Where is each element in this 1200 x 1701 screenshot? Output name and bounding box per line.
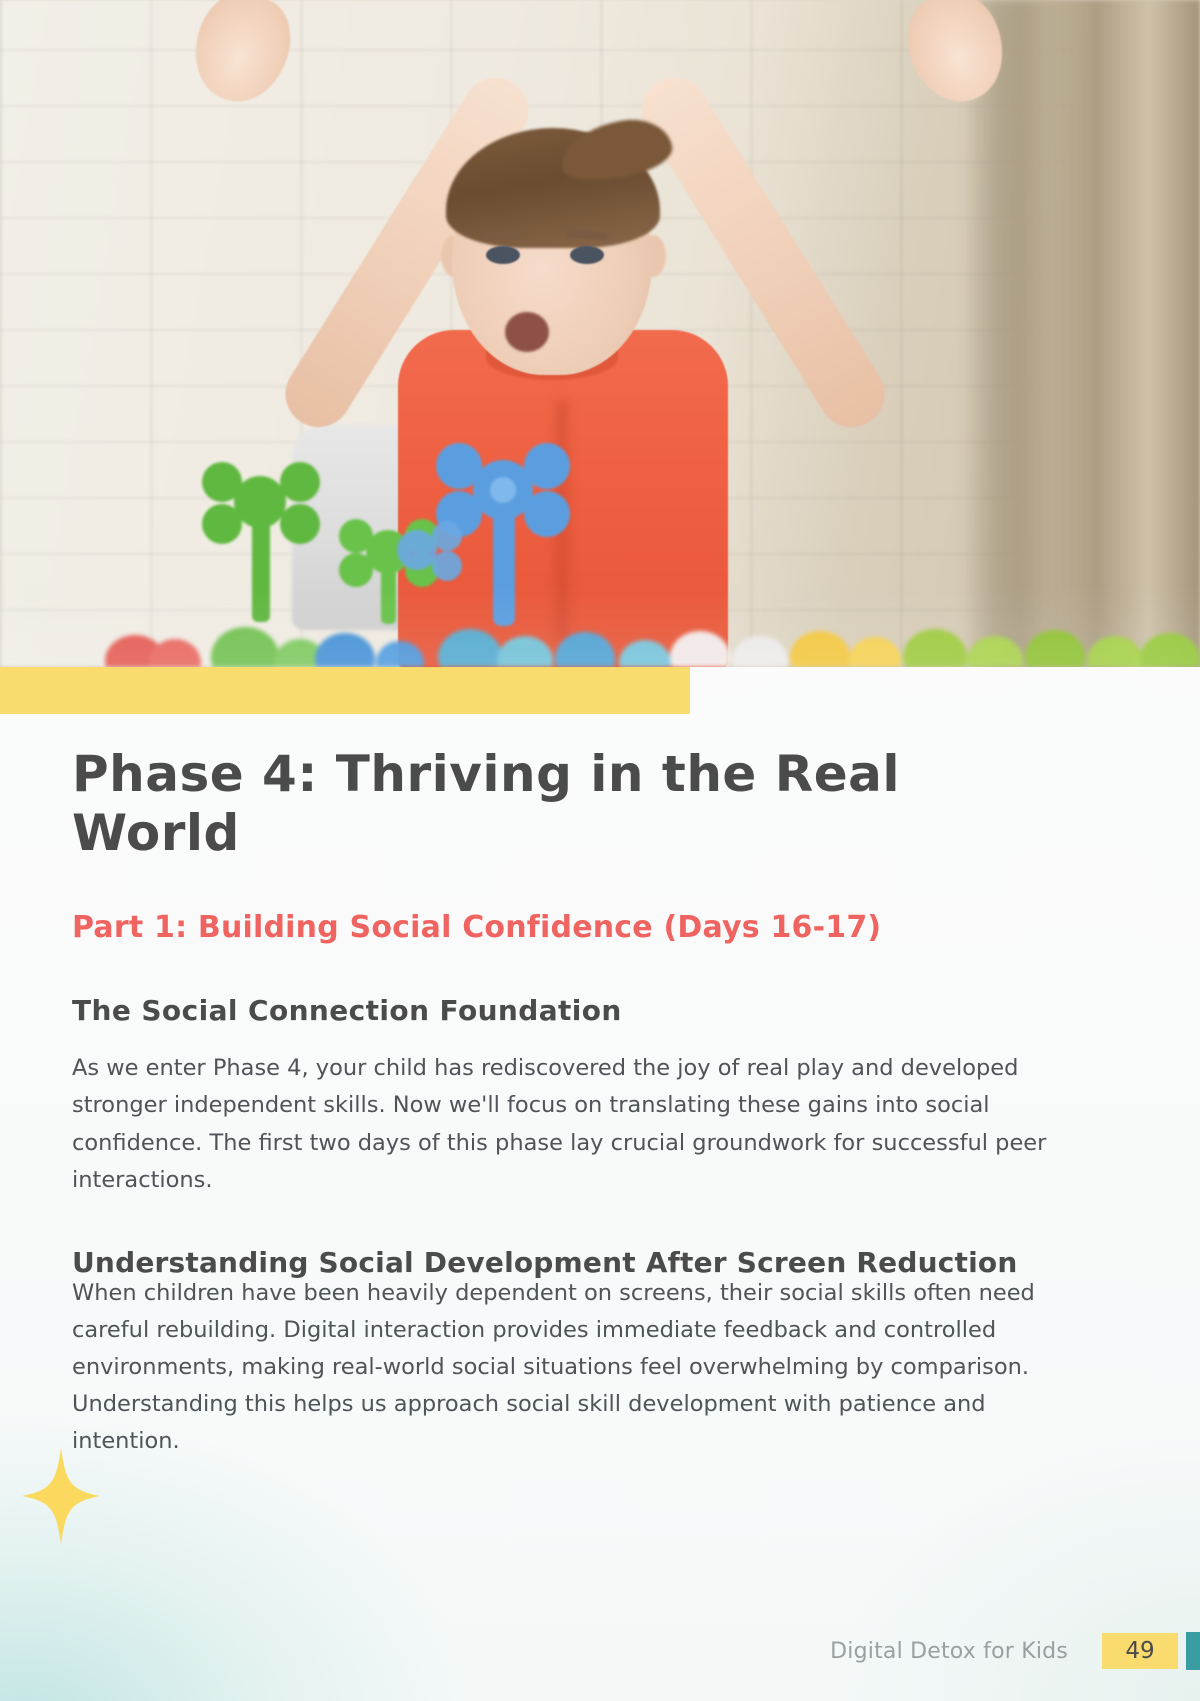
table-surface-highlight bbox=[0, 583, 1200, 667]
page-number-badge: 49 bbox=[1102, 1633, 1178, 1669]
page-footer: Digital Detox for Kids 49 bbox=[0, 1628, 1200, 1674]
footer-book-title: Digital Detox for Kids bbox=[830, 1639, 1068, 1664]
yellow-accent-bar bbox=[0, 667, 690, 714]
footer-teal-tick bbox=[1186, 1632, 1200, 1670]
page-title: Phase 4: Thriving in the Real World bbox=[72, 745, 972, 863]
section-body-social-connection-foundation: As we enter Phase 4, your child has redi… bbox=[72, 1050, 1062, 1199]
document-page: Phase 4: Thriving in the Real World Part… bbox=[0, 0, 1200, 1701]
child-left-eye bbox=[486, 246, 520, 264]
curtain-fold bbox=[960, 0, 1080, 667]
page-content: Phase 4: Thriving in the Real World Part… bbox=[72, 745, 1104, 1460]
part-title: Part 1: Building Social Confidence (Days… bbox=[72, 909, 1104, 947]
child-open-mouth bbox=[505, 312, 549, 352]
child-right-eye bbox=[570, 246, 604, 264]
hero-photo bbox=[0, 0, 1200, 667]
section-heading-social-connection-foundation: The Social Connection Foundation bbox=[72, 993, 1104, 1029]
section-body-understanding-social-development: When children have been heavily dependen… bbox=[72, 1275, 1062, 1461]
four-point-star-sparkle-icon bbox=[22, 1448, 100, 1544]
